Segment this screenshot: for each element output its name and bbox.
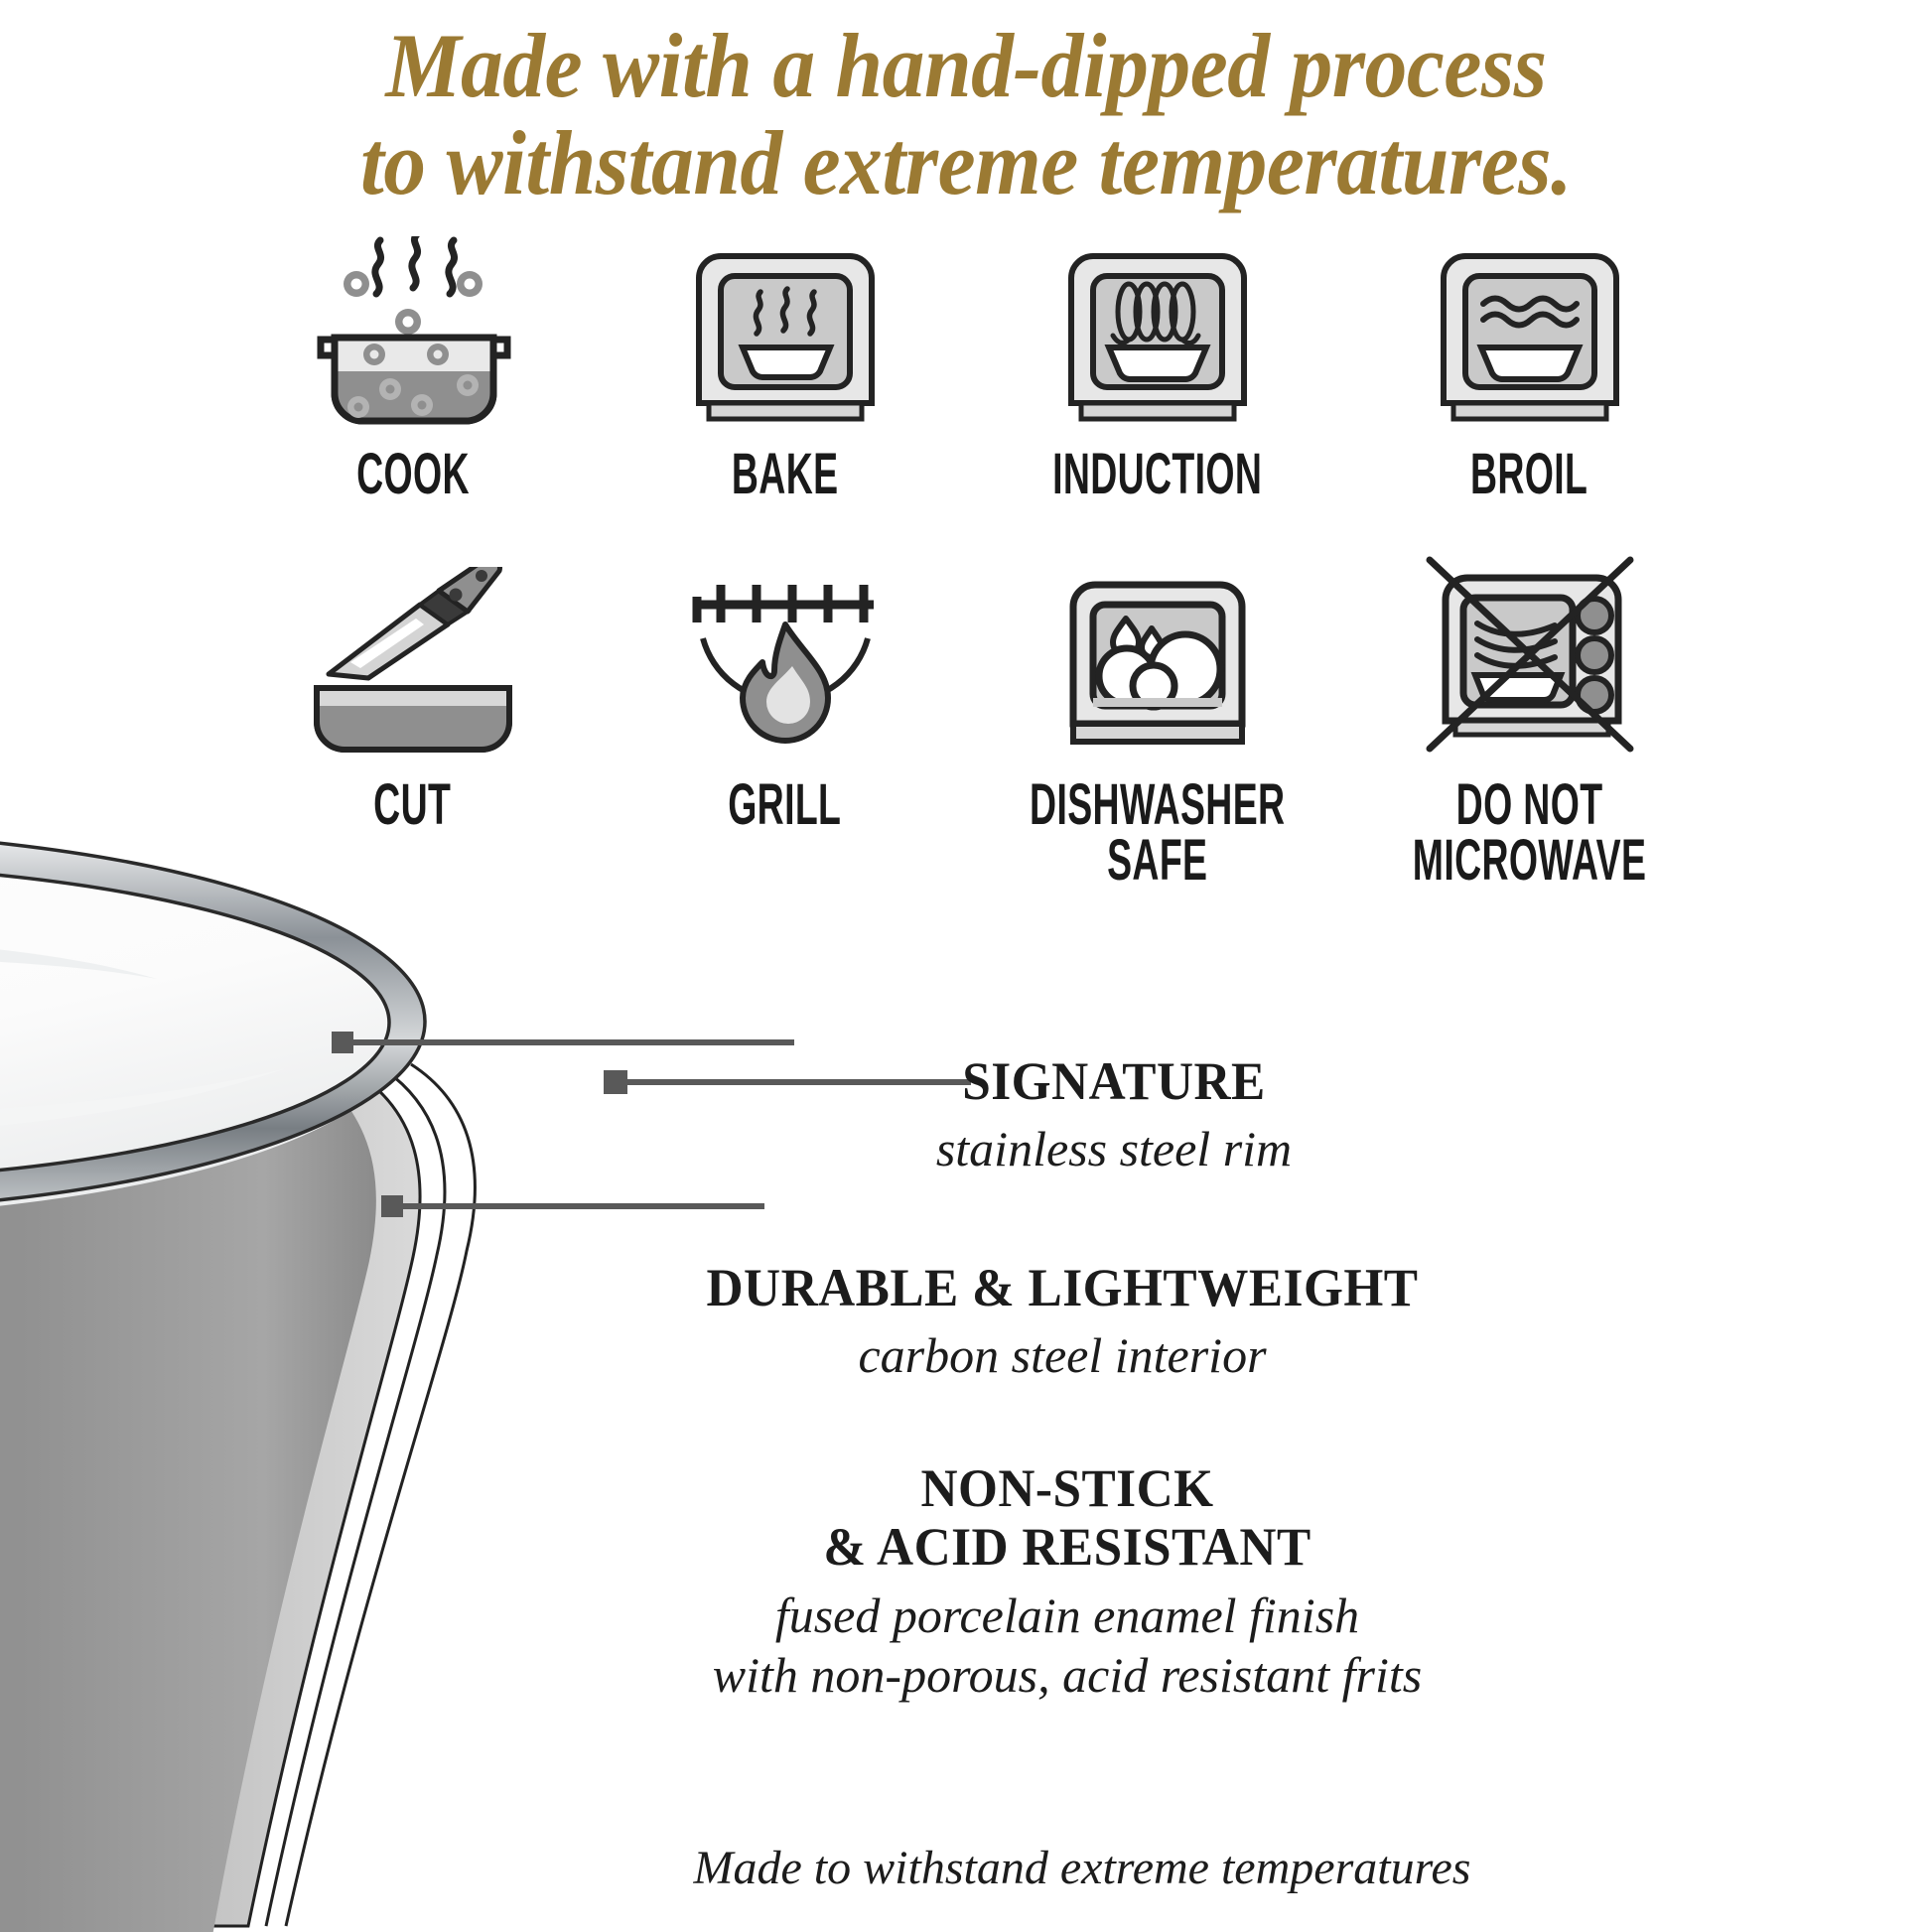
grill-flame-icon	[681, 552, 890, 765]
callout-title: NON-STICK & ACID RESISTANT	[620, 1459, 1516, 1578]
callout-subtitle: stainless steel rim	[766, 1119, 1461, 1178]
capability-induction: INDUCTION	[971, 236, 1343, 496]
callout-subtitle: carbon steel interior	[616, 1325, 1509, 1385]
headline-line-2: to withstand extreme temperatures.	[68, 115, 1864, 212]
capability-label: COOK	[356, 447, 470, 502]
capability-dishwasher-safe: DISHWASHER SAFE	[971, 552, 1343, 878]
capability-broil: BROIL	[1343, 236, 1716, 496]
capability-icon-grid: COOK BA	[226, 236, 1716, 878]
capability-cut: CUT	[226, 552, 599, 878]
dishwasher-icon	[1053, 552, 1262, 765]
capability-label: DO NOT MICROWAVE	[1413, 777, 1647, 890]
footnote: Made to withstand extreme temperatures D…	[596, 1779, 1569, 1932]
capability-no-microwave: DO NOT MICROWAVE	[1343, 552, 1716, 878]
capability-label: CUT	[373, 777, 451, 833]
no-microwave-icon	[1416, 552, 1644, 765]
induction-coil-icon	[1053, 236, 1262, 435]
callout-signature: SIGNATURE stainless steel rim	[766, 1052, 1461, 1178]
knife-over-pan-icon	[299, 552, 527, 765]
capability-label: DISHWASHER SAFE	[1030, 777, 1285, 890]
product-infographic: Made with a hand-dipped process to withs…	[0, 0, 1932, 1932]
headline-line-1: Made with a hand-dipped process	[385, 15, 1546, 116]
capability-label: BAKE	[732, 447, 839, 502]
callout-title: DURABLE & LIGHTWEIGHT	[638, 1259, 1487, 1317]
page-title: Made with a hand-dipped process to withs…	[68, 18, 1864, 211]
capability-label: INDUCTION	[1052, 447, 1262, 502]
callout-subtitle: fused porcelain enamel finish with non-p…	[596, 1586, 1539, 1705]
broil-element-icon	[1426, 236, 1634, 435]
icon-row-1: COOK BA	[226, 236, 1716, 496]
capability-label: BROIL	[1470, 447, 1587, 502]
callout-non-stick-acid-resistant: NON-STICK & ACID RESISTANT fused porcela…	[596, 1459, 1539, 1705]
oven-bake-icon	[681, 236, 890, 435]
callout-durable-lightweight: DURABLE & LIGHTWEIGHT carbon steel inter…	[616, 1259, 1509, 1385]
capability-grill: GRILL	[599, 552, 971, 878]
icon-row-2: CUT	[226, 552, 1716, 878]
footnote-line-1: Made to withstand extreme temperatures	[596, 1839, 1569, 1898]
capability-label: GRILL	[728, 777, 841, 833]
capability-cook: COOK	[226, 236, 599, 496]
pot-with-steam-icon	[299, 236, 527, 435]
callout-title: SIGNATURE	[784, 1052, 1445, 1111]
capability-bake: BAKE	[599, 236, 971, 496]
